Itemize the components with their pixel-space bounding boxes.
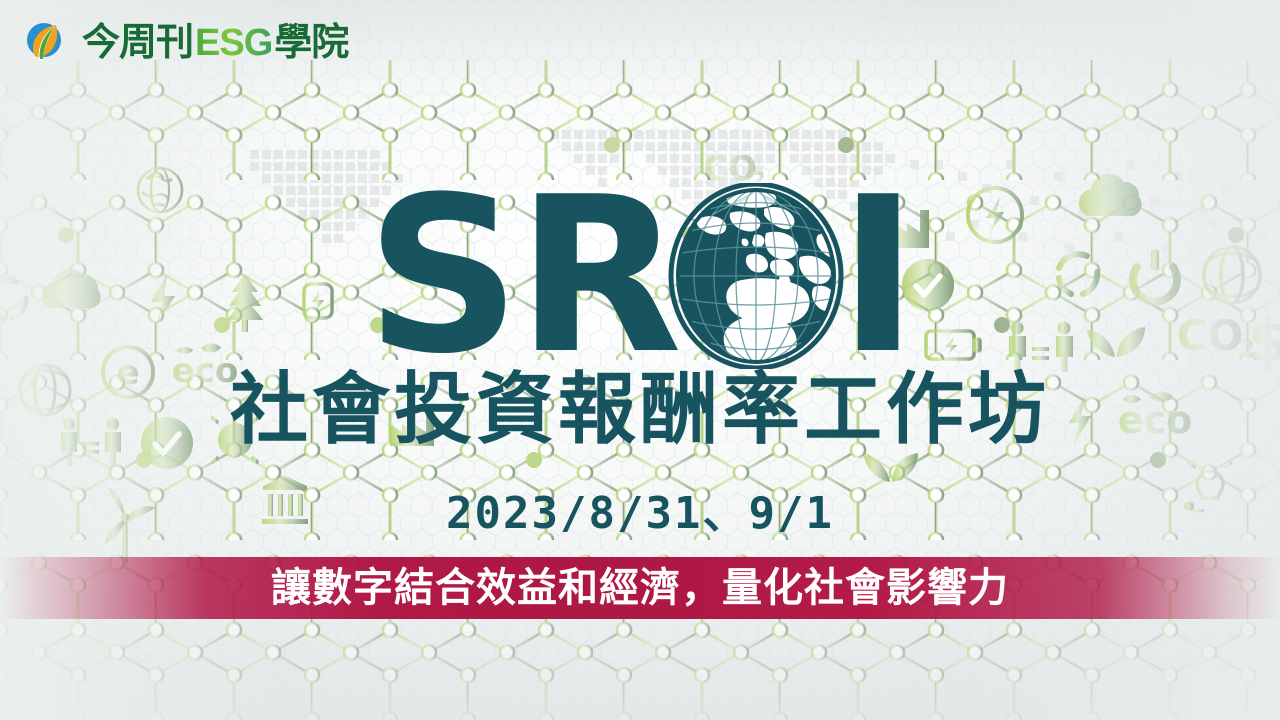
event-date: 2023/8/31、9/1 [0,490,1280,538]
sroi-wordmark: SR [0,176,1280,376]
poster-canvas: e eco [0,0,1280,720]
globe-icon [668,183,844,369]
sroi-letters-right: I [838,181,914,371]
workshop-title-zh: 社會投資報酬率工作坊 [0,368,1280,452]
tagline-text: 讓數字結合效益和經濟，量化社會影響力 [271,566,1009,610]
sroi-letters-left: SR [366,181,678,371]
tagline-banner: 讓數字結合效益和經濟，量化社會影響力 [0,557,1280,619]
